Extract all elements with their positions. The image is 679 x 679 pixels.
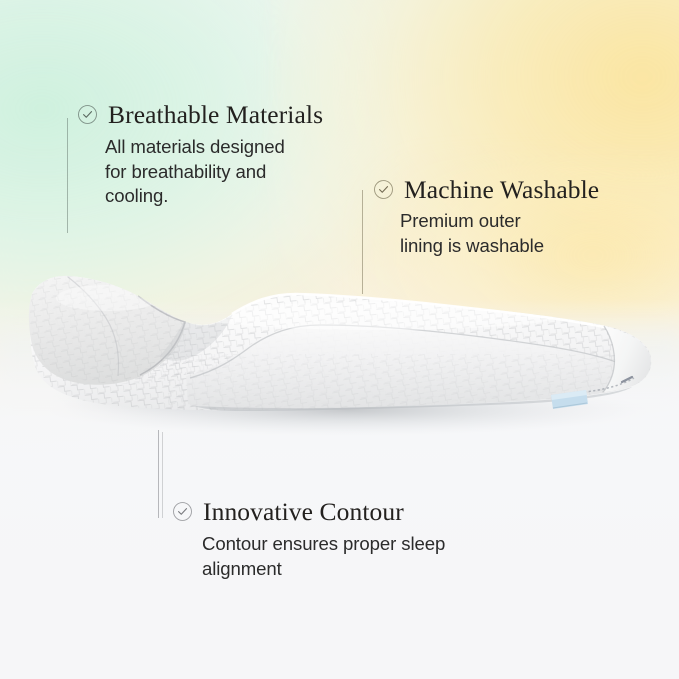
feature-description-line: All materials designed bbox=[105, 135, 323, 160]
connector-line-shadow bbox=[162, 432, 163, 518]
feature-description-line: for breathability and bbox=[105, 160, 323, 185]
feature-title: Machine Washable bbox=[404, 176, 599, 203]
feature-title: Breathable Materials bbox=[108, 101, 323, 128]
connector-line bbox=[67, 118, 68, 233]
product-infographic: Breathable Materials All materials desig… bbox=[0, 0, 679, 679]
feature-description-line: Premium outer bbox=[400, 209, 599, 234]
pillow-illustration bbox=[18, 258, 663, 458]
check-circle-icon bbox=[373, 179, 394, 200]
feature-heading-row: Machine Washable bbox=[373, 176, 599, 203]
feature-callout-contour: Innovative Contour Contour ensures prope… bbox=[158, 430, 445, 581]
feature-description: All materials designed for breathability… bbox=[105, 135, 323, 209]
connector-line bbox=[362, 190, 363, 294]
feature-heading-row: Innovative Contour bbox=[172, 498, 445, 525]
feature-callout-breathable: Breathable Materials All materials desig… bbox=[67, 101, 323, 209]
pillow-image bbox=[18, 258, 663, 458]
feature-description: Premium outer lining is washable bbox=[400, 209, 599, 258]
feature-description-line: lining is washable bbox=[400, 234, 599, 259]
feature-description: Contour ensures proper sleep alignment bbox=[202, 532, 445, 581]
feature-description-line: alignment bbox=[202, 557, 445, 582]
check-circle-icon bbox=[172, 501, 193, 522]
connector-line bbox=[158, 430, 159, 518]
feature-heading-row: Breathable Materials bbox=[77, 101, 323, 128]
feature-callout-washable: Machine Washable Premium outer lining is… bbox=[362, 176, 599, 258]
feature-title: Innovative Contour bbox=[203, 498, 404, 525]
feature-description-line: cooling. bbox=[105, 184, 323, 209]
feature-description-line: Contour ensures proper sleep bbox=[202, 532, 445, 557]
check-circle-icon bbox=[77, 104, 98, 125]
